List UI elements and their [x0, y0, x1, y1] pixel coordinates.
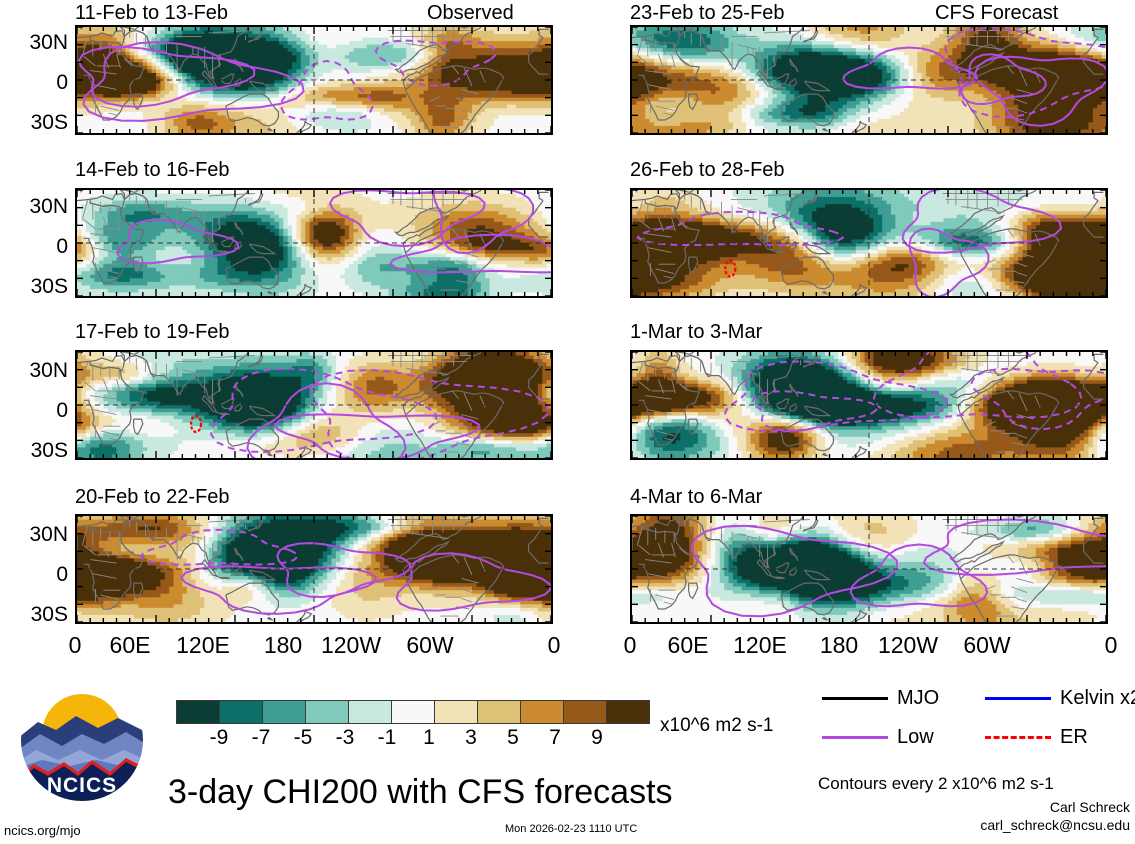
legend-item-mjo: MJO	[822, 688, 939, 708]
panel-title-7: 4-Mar to 6-Mar	[630, 487, 762, 507]
contour-interval-note: Contours every 2 x10^6 m2 s-1	[818, 775, 1054, 792]
colorbar-segment-1	[219, 701, 262, 723]
colorbar-segment-5	[391, 701, 434, 723]
colorbar-segment-2	[262, 701, 305, 723]
colorbar-segment-0	[177, 701, 219, 723]
legend-line-kelvin	[985, 697, 1051, 700]
map-panel-3	[75, 514, 553, 624]
map-panel-4	[630, 25, 1108, 135]
map-panel-2	[75, 350, 553, 460]
panel-title-0: 11-Feb to 13-Feb	[75, 3, 228, 23]
column-tag-forecast: CFS Forecast	[935, 3, 1058, 23]
ylabel-0-row0: 0	[0, 72, 68, 93]
legend-item-low: Low	[822, 727, 934, 747]
colorbar-segment-10	[606, 701, 649, 723]
ncics-logo: NCICS	[18, 676, 146, 804]
legend-line-low	[822, 736, 888, 739]
colorbar-segment-7	[477, 701, 520, 723]
render-timestamp: Mon 2026-02-23 1110 UTC	[505, 824, 637, 835]
map-panel-6	[630, 350, 1108, 460]
legend-line-mjo	[822, 697, 888, 700]
column-tag-observed: Observed	[427, 3, 514, 23]
ylabel-30s-row3: 30S	[0, 604, 68, 625]
ylabel-30n-row1: 30N	[0, 196, 68, 217]
page-title: 3-day CHI200 with CFS forecasts	[168, 775, 673, 809]
author-credit: Carl Schreck carl_schreck@ncsu.edu	[860, 798, 1130, 834]
colorbar-segment-8	[520, 701, 563, 723]
panel-title-5: 26-Feb to 28-Feb	[630, 160, 785, 180]
author-email: carl_schreck@ncsu.edu	[860, 816, 1130, 834]
colorbar-tick-9: 9	[567, 727, 627, 748]
site-url: ncics.org/mjo	[4, 824, 81, 837]
ylabel-0-row1: 0	[0, 236, 68, 257]
legend-label-er: ER	[1060, 727, 1088, 747]
colorbar-segment-6	[434, 701, 477, 723]
ylabel-30s-row0: 30S	[0, 112, 68, 133]
panel-title-4: 23-Feb to 25-Feb	[630, 3, 785, 23]
panel-title-6: 1-Mar to 3-Mar	[630, 322, 762, 342]
ylabel-0-row2: 0	[0, 400, 68, 421]
author-name: Carl Schreck	[860, 798, 1130, 816]
map-panel-5	[630, 188, 1108, 298]
xlabel-right-360: 0	[1036, 634, 1135, 657]
colorbar-segment-3	[305, 701, 348, 723]
map-panel-0	[75, 25, 553, 135]
colorbar	[176, 700, 650, 724]
panel-title-3: 20-Feb to 22-Feb	[75, 487, 230, 507]
colorbar-segment-4	[348, 701, 391, 723]
legend-label-kelvin: Kelvin x2	[1060, 688, 1135, 708]
ylabel-30n-row2: 30N	[0, 360, 68, 381]
legend-label-low: Low	[897, 727, 934, 747]
ylabel-30n-row0: 30N	[0, 32, 68, 53]
legend-item-er: ER	[985, 727, 1088, 747]
legend-label-mjo: MJO	[897, 688, 939, 708]
ylabel-0-row3: 0	[0, 564, 68, 585]
map-panel-7	[630, 514, 1108, 624]
map-panel-1	[75, 188, 553, 298]
panel-title-1: 14-Feb to 16-Feb	[75, 160, 230, 180]
ylabel-30s-row1: 30S	[0, 276, 68, 297]
ylabel-30s-row2: 30S	[0, 440, 68, 461]
colorbar-segment-9	[563, 701, 606, 723]
colorbar-units: x10^6 m2 s-1	[660, 716, 773, 735]
ylabel-30n-row3: 30N	[0, 524, 68, 545]
legend-line-er	[985, 736, 1051, 739]
panel-title-2: 17-Feb to 19-Feb	[75, 322, 230, 342]
legend-item-kelvin: Kelvin x2	[985, 688, 1135, 708]
